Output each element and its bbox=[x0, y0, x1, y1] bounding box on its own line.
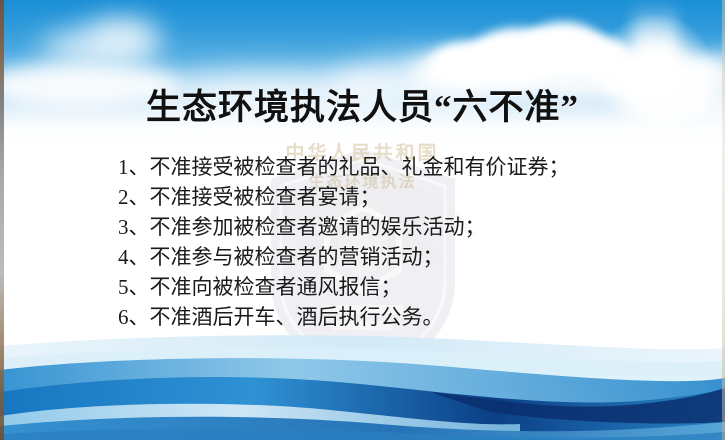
list-item-text: 不准酒后开车、酒后执行公务。 bbox=[150, 305, 444, 329]
list-item-number: 6、 bbox=[118, 305, 150, 329]
list-item: 5、不准向被检查者通风报信； bbox=[118, 272, 678, 302]
list-item-text: 不准接受被检查者宴请； bbox=[150, 185, 381, 209]
list-item-number: 4、 bbox=[118, 245, 150, 269]
left-edge-border bbox=[0, 0, 4, 440]
rules-list: 1、不准接受被检查者的礼品、礼金和有价证券； 2、不准接受被检查者宴请； 3、不… bbox=[118, 152, 678, 332]
wave-decoration bbox=[0, 330, 725, 440]
poster-canvas: 中华人民共和国 生态环境执法 生态环境执法人员“六不准” 1、不准接受被检查者的… bbox=[0, 0, 725, 440]
cloud-shape bbox=[88, 20, 158, 50]
list-item: 6、不准酒后开车、酒后执行公务。 bbox=[118, 302, 678, 332]
list-item: 4、不准参与被检查者的营销活动； bbox=[118, 242, 678, 272]
list-item-number: 5、 bbox=[118, 275, 150, 299]
list-item-text: 不准参加被检查者邀请的娱乐活动； bbox=[150, 215, 486, 239]
list-item: 1、不准接受被检查者的礼品、礼金和有价证券； bbox=[118, 152, 678, 182]
list-item: 2、不准接受被检查者宴请； bbox=[118, 182, 678, 212]
list-item-number: 1、 bbox=[118, 155, 150, 179]
list-item: 3、不准参加被检查者邀请的娱乐活动； bbox=[118, 212, 678, 242]
page-title: 生态环境执法人员“六不准” bbox=[0, 86, 725, 130]
list-item-text: 不准向被检查者通风报信； bbox=[150, 275, 402, 299]
list-item-number: 2、 bbox=[118, 185, 150, 209]
list-item-number: 3、 bbox=[118, 215, 150, 239]
list-item-text: 不准接受被检查者的礼品、礼金和有价证券； bbox=[150, 155, 570, 179]
list-item-text: 不准参与被检查者的营销活动； bbox=[150, 245, 444, 269]
